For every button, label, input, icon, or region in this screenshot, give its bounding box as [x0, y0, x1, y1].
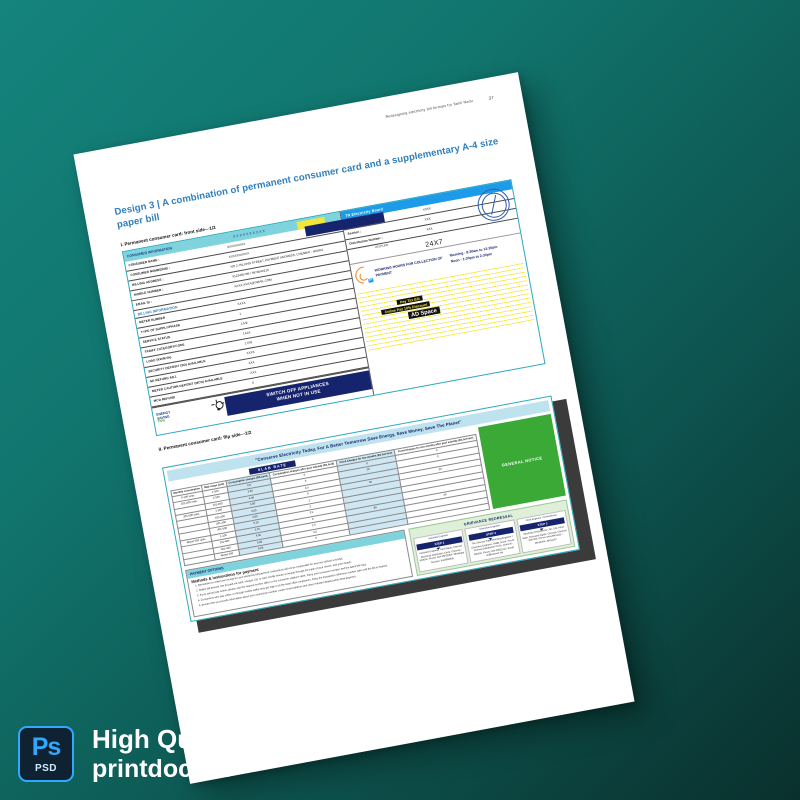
- a4-page: Redesigning electricity bill formats for…: [73, 72, 634, 784]
- grievance-step: Assistant Engineer STEP 1 Assistant Engi…: [413, 529, 469, 572]
- psd-file-icon: Ps PSD: [18, 726, 74, 782]
- working-hours-times: Morning - 8:30am to 12:30pm Noon - 1:30p…: [449, 245, 499, 264]
- footer-site: printdocs.is: [92, 755, 365, 784]
- page-number: 37: [488, 95, 494, 101]
- photoshop-ps-glyph: Ps: [32, 735, 61, 760]
- footer-headline: High Quality Template: [92, 725, 365, 755]
- footer-bar: Ps PSD High Quality Template printdocs.i…: [0, 708, 800, 800]
- grievance-step: Executive Engineer STEP 2 The Chennai Su…: [464, 520, 520, 563]
- phone-24h-icon: 24: [354, 265, 374, 285]
- general-notice-panel: GENERAL NOTICE: [478, 413, 566, 509]
- running-head-text: Redesigning electricity bill formats for…: [385, 99, 473, 119]
- consumer-card-back-wrap: "Conserve Electricity Today, For A Bette…: [162, 396, 580, 622]
- card-front-right: TN Electricity Board Region / Circle : X…: [341, 181, 545, 395]
- energy-tips-label: ENERGY SAVING TIPS: [153, 403, 214, 425]
- mockup-stage: Redesigning electricity bill formats for…: [0, 0, 800, 800]
- psd-label: PSD: [35, 763, 57, 774]
- phone-badge: 24: [368, 279, 373, 283]
- footer-text: High Quality Template printdocs.is: [92, 725, 365, 784]
- document-page-mockup: Redesigning electricity bill formats for…: [73, 72, 634, 784]
- consumer-card-back: "Conserve Electricity Today, For A Bette…: [162, 396, 580, 622]
- lightbulb-icon: [212, 400, 225, 416]
- card-front-left: CONSUMER INFORMATION XXXXXXXXXX CONSUMER…: [123, 212, 374, 435]
- grievance-step: Chief Engineer / Ombudsman STEP 3 Electr…: [516, 510, 572, 553]
